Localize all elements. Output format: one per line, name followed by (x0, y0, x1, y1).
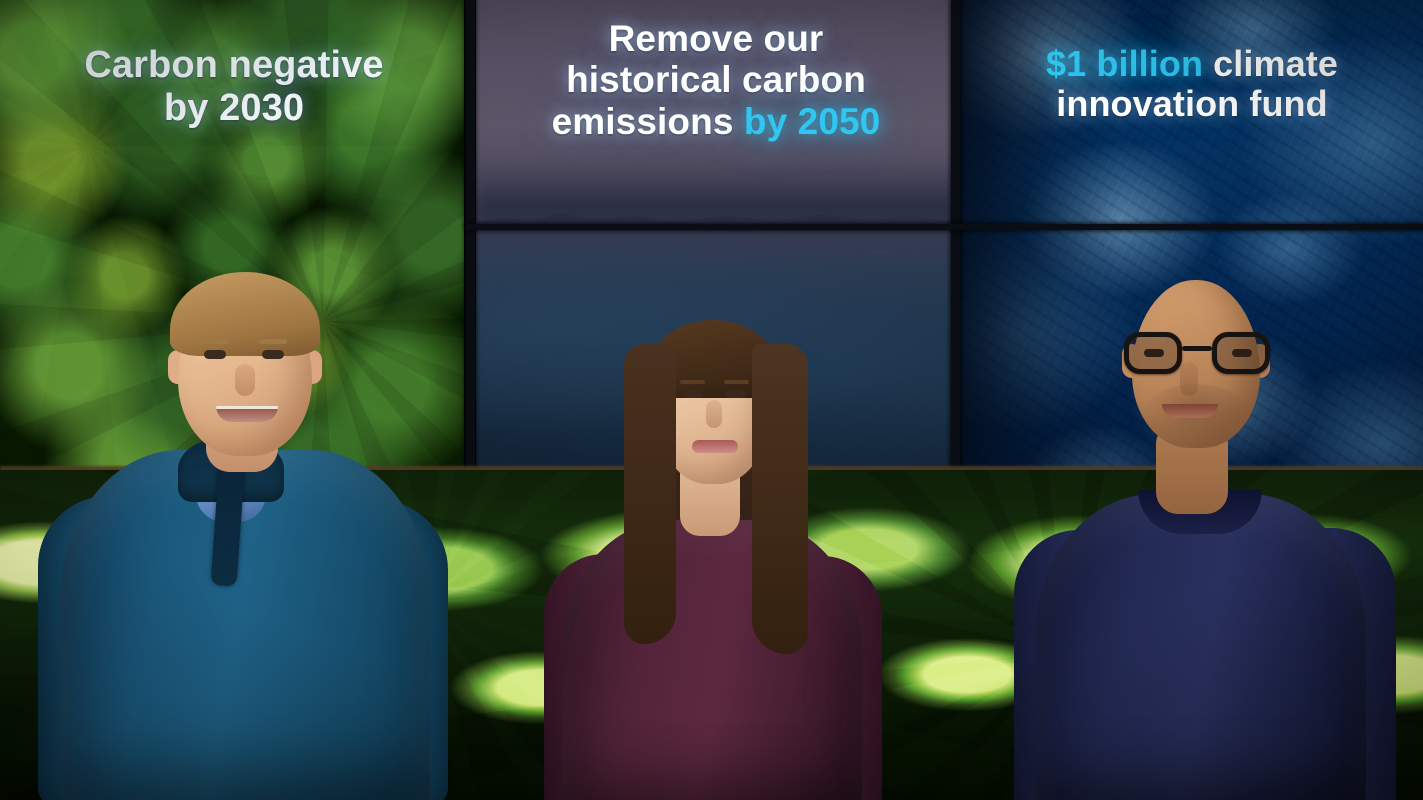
caption-center-line3: emissions by 2050 (480, 101, 952, 142)
eyeglasses-bridge (1182, 346, 1212, 351)
caption-center-line1: Remove our (480, 18, 952, 59)
panel-bezel-horizontal (466, 224, 1423, 230)
caption-right-line1: $1 billion climate (962, 44, 1422, 84)
slide-caption-left: Carbon negative by 2030 (8, 44, 460, 129)
person-center-mouth (692, 440, 738, 453)
caption-center-line3-highlight: by 2050 (744, 101, 880, 142)
caption-right-line1-plain: climate (1213, 43, 1338, 84)
slide-caption-right: $1 billion climate innovation fund (962, 44, 1422, 125)
person-left (10, 260, 480, 800)
caption-right-line2: innovation fund (962, 84, 1422, 124)
person-center-torso (562, 520, 862, 800)
person-center-hair-right (752, 344, 808, 654)
caption-center-line3-plain: emissions (552, 101, 734, 142)
person-center-hair-left (624, 344, 676, 644)
person-left-eyebrow-right (259, 339, 287, 344)
person-center-eyebrow-left (680, 380, 705, 384)
person-left-mouth (216, 406, 278, 422)
caption-center-line2: historical carbon (480, 59, 952, 100)
caption-left-line1: Carbon negative (8, 44, 460, 87)
caption-left-line2: by 2030 (8, 87, 460, 130)
person-center (520, 282, 910, 800)
eyeglasses-lens-right (1212, 332, 1270, 374)
photo-stage: Carbon negative by 2030 Remove our histo… (0, 0, 1423, 800)
eyeglasses-lens-left (1124, 332, 1182, 374)
person-center-nose (706, 400, 722, 428)
person-right-nose (1180, 362, 1198, 396)
person-left-eye-right (262, 350, 284, 359)
person-right-mouth (1162, 404, 1218, 418)
person-left-hair (170, 272, 320, 356)
person-center-eye-left (682, 390, 702, 398)
person-left-eye-left (204, 350, 226, 359)
person-right-torso (1036, 494, 1366, 800)
person-center-eye-right (726, 390, 746, 398)
person-center-eyebrow-right (724, 380, 749, 384)
person-right (990, 252, 1410, 800)
slide-caption-center: Remove our historical carbon emissions b… (480, 18, 952, 142)
person-left-nose (235, 364, 255, 396)
caption-right-line1-highlight: $1 billion (1046, 43, 1203, 84)
person-left-eyebrow-left (201, 339, 229, 344)
